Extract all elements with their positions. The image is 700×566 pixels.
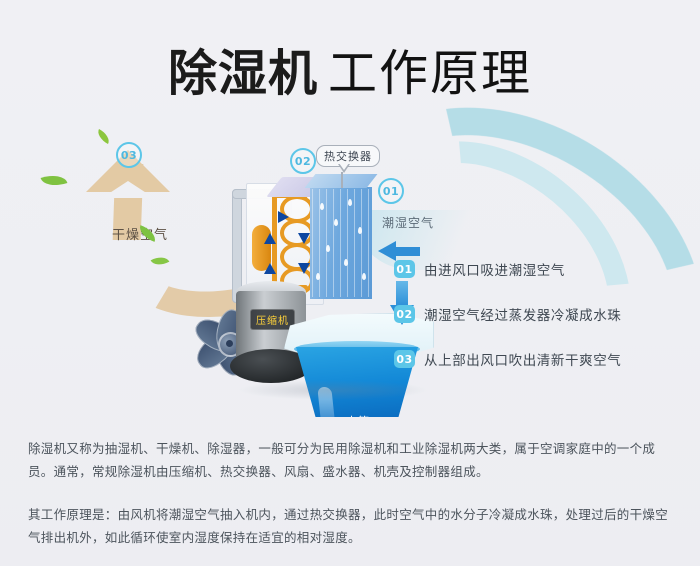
legend-text: 潮湿空气经过蒸发器冷凝成水珠 <box>424 304 621 324</box>
legend-badge: 02 <box>394 305 415 323</box>
legend-text: 由进风口吸进潮湿空气 <box>424 259 565 279</box>
legend-list: 01 由进风口吸进潮湿空气 02 潮湿空气经过蒸发器冷凝成水珠 03 从上部出风… <box>394 258 684 393</box>
water-droplet <box>344 259 348 266</box>
water-droplet <box>348 199 352 206</box>
body-copy: 除湿机又称为抽湿机、干燥机、除湿器，一般可分为民用除湿机和工业除湿机两大类，属于… <box>28 424 676 561</box>
infographic-page: 除湿机工作原理 干燥空气 <box>0 0 700 566</box>
page-title-part2: 工作原理 <box>328 45 532 102</box>
legend-item: 02 潮湿空气经过蒸发器冷凝成水珠 <box>394 303 684 325</box>
callout-pointer <box>338 164 350 173</box>
flow-arrow-icon <box>278 211 289 223</box>
paragraph-1: 除湿机又称为抽湿机、干燥机、除湿器，一般可分为民用除湿机和工业除湿机两大类，属于… <box>28 437 676 483</box>
flow-arrow-icon <box>298 233 310 244</box>
water-droplet <box>334 219 338 226</box>
water-droplet <box>358 227 362 234</box>
legend-text: 从上部出风口吹出清新干爽空气 <box>424 349 621 369</box>
legend-badge: 03 <box>394 350 415 368</box>
flow-arrow-icon <box>264 263 276 274</box>
page-title: 除湿机工作原理 <box>0 34 700 105</box>
humid-air-label: 潮湿空气 <box>382 214 434 231</box>
flow-arrow-icon <box>264 233 276 244</box>
paragraph-2: 其工作原理是：由风机将潮湿空气抽入机内，通过热交换器，此时空气中的水分子冷凝成水… <box>28 503 676 549</box>
diagram-badge-01: 01 <box>378 178 404 204</box>
page-title-part1: 除湿机 <box>168 45 318 102</box>
callout-stem <box>341 172 343 188</box>
legend-item: 01 由进风口吸进潮湿空气 <box>394 258 684 280</box>
flow-arrow-icon <box>298 263 310 274</box>
air-inlet-arrow-shaft <box>394 247 420 256</box>
water-droplet <box>320 203 324 210</box>
water-droplet <box>362 273 366 280</box>
diagram-badge-02: 02 <box>290 148 316 174</box>
dry-arrow-notch <box>102 181 154 198</box>
diagram-badge-03: 03 <box>116 142 142 168</box>
legend-badge: 01 <box>394 260 415 278</box>
water-droplet <box>316 273 320 280</box>
legend-item: 03 从上部出风口吹出清新干爽空气 <box>394 348 684 370</box>
water-droplet <box>326 245 330 252</box>
